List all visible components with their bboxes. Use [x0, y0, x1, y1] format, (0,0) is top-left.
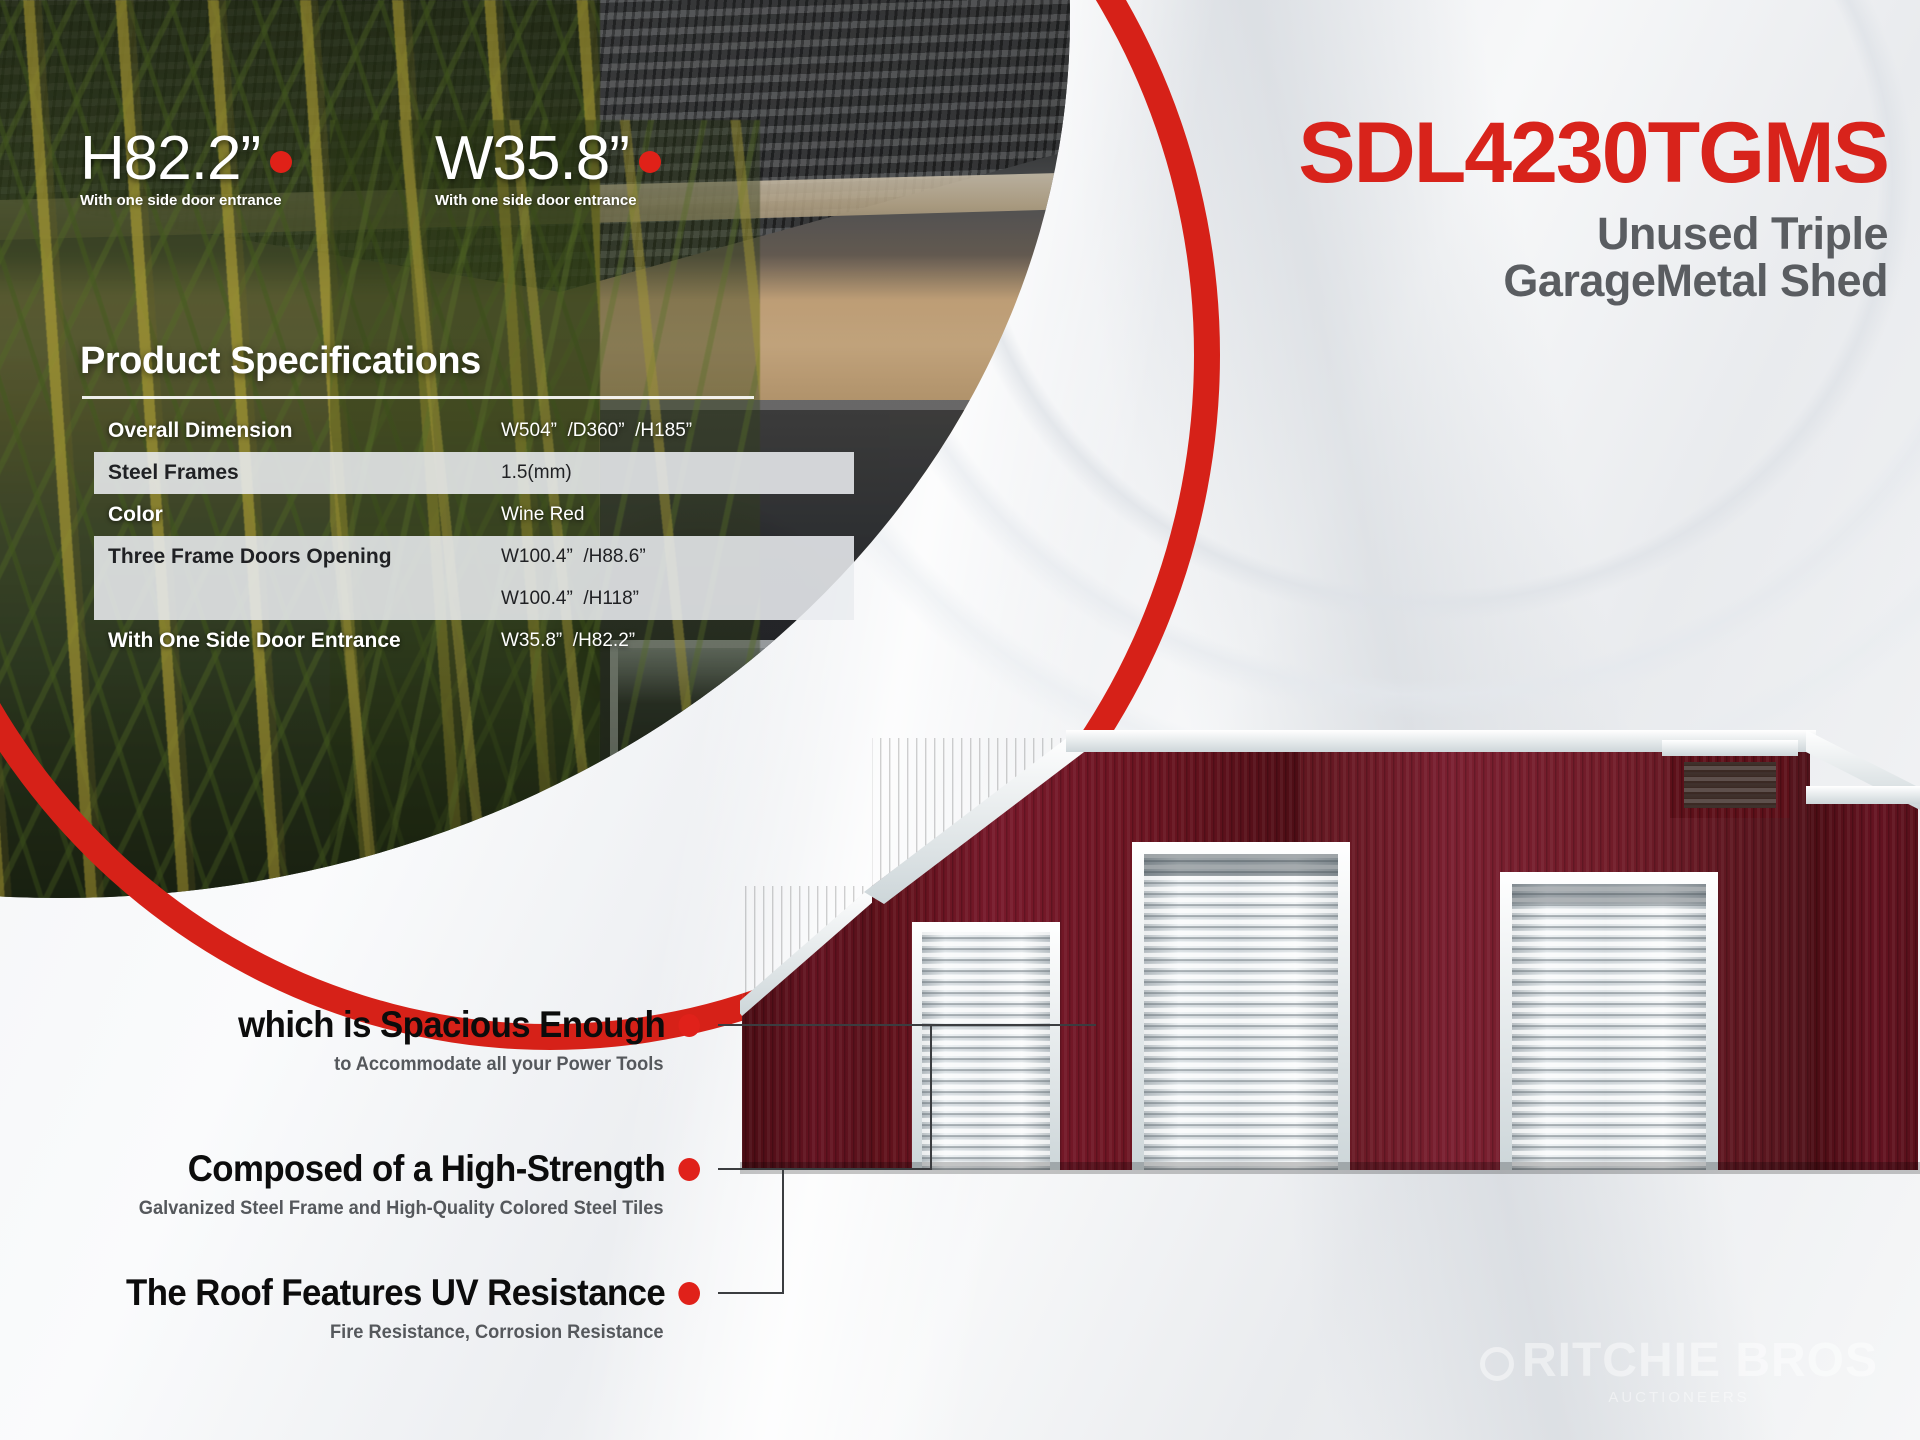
dimension-height-caption: With one side door entrance	[80, 192, 292, 209]
spec-table: Overall Dimension W504” /D360” /H185” St…	[94, 410, 854, 662]
roll-up-door-right	[1500, 872, 1718, 1170]
leader-line-feature-2-riser	[930, 1024, 932, 1170]
spec-label: Overall Dimension	[108, 419, 501, 443]
product-name-line2: GarageMetal Shed	[1298, 257, 1888, 304]
product-title-block: SDL4230TGMS Unused Triple GarageMetal Sh…	[1298, 110, 1888, 305]
spec-label: Color	[108, 503, 501, 527]
leader-line-feature-3-riser	[782, 1168, 784, 1294]
feature-2-headline: Composed of a High-Strength	[188, 1148, 665, 1190]
spec-value: W504” /D360” /H185”	[501, 420, 692, 442]
spec-label: Steel Frames	[108, 461, 501, 485]
spec-value: W35.8” /H82.2”	[501, 630, 635, 652]
feature-callout-1: which is Spacious Enough to Accommodate …	[40, 1004, 700, 1076]
red-dot-icon	[270, 151, 292, 173]
spec-value: Wine Red	[501, 504, 584, 526]
poster-canvas: H82.2” With one side door entrance W35.8…	[0, 0, 1920, 1440]
feature-callout-2: Composed of a High-Strength Galvanized S…	[10, 1148, 700, 1220]
spec-heading: Product Specifications	[80, 340, 481, 383]
spec-value: W100.4” /H88.6”	[501, 546, 646, 568]
roll-up-door-middle	[1132, 842, 1350, 1170]
red-dot-icon	[678, 1158, 700, 1181]
spec-value: W100.4” /H118”	[501, 588, 639, 610]
spec-value: 1.5(mm)	[501, 462, 572, 484]
leader-line-feature-1	[718, 1024, 1096, 1026]
red-dot-icon	[678, 1282, 700, 1305]
table-row: W100.4” /H118”	[94, 578, 854, 620]
table-row: Color Wine Red	[94, 494, 854, 536]
product-name: Unused Triple GarageMetal Shed	[1298, 210, 1888, 305]
table-row: Overall Dimension W504” /D360” /H185”	[94, 410, 854, 452]
dimension-width-caption: With one side door entrance	[435, 192, 661, 209]
product-code: SDL4230TGMS	[1298, 110, 1888, 196]
red-dot-icon	[639, 151, 661, 173]
spec-heading-rule	[82, 396, 754, 399]
dimension-height-value: H82.2”	[80, 128, 260, 190]
table-row: With One Side Door Entrance W35.8” /H82.…	[94, 620, 854, 662]
product-name-line1: Unused Triple	[1298, 210, 1888, 257]
table-row-band: Three Frame Doors Opening W100.4” /H88.6…	[94, 536, 854, 620]
dimension-callout-width: W35.8” With one side door entrance	[435, 128, 661, 209]
table-row: Three Frame Doors Opening W100.4” /H88.6…	[94, 536, 854, 578]
spec-label: Three Frame Doors Opening	[108, 545, 501, 569]
feature-3-subline: Fire Resistance, Corrosion Resistance	[28, 1322, 700, 1344]
shed-reflection	[740, 1250, 1920, 1440]
feature-callout-3: The Roof Features UV Resistance Fire Res…	[0, 1272, 700, 1344]
feature-1-headline: which is Spacious Enough	[238, 1004, 665, 1046]
red-dot-icon	[678, 1014, 700, 1037]
feature-3-headline: The Roof Features UV Resistance	[126, 1272, 665, 1314]
table-row-band: Steel Frames 1.5(mm)	[94, 452, 854, 494]
feature-1-headline-row: which is Spacious Enough	[80, 1004, 700, 1046]
leader-line-feature-2	[718, 1168, 932, 1170]
leader-line-feature-3	[718, 1292, 784, 1294]
roll-up-door-left	[912, 922, 1060, 1170]
product-image-shed	[740, 700, 1920, 1260]
feature-1-subline: to Accommodate all your Power Tools	[66, 1054, 700, 1076]
dimension-callout-height: H82.2” With one side door entrance	[80, 128, 292, 209]
spec-label: With One Side Door Entrance	[108, 629, 501, 653]
table-row: Steel Frames 1.5(mm)	[94, 452, 854, 494]
dimension-width-value: W35.8”	[435, 128, 629, 190]
feature-3-headline-row: The Roof Features UV Resistance	[42, 1272, 700, 1314]
feature-2-headline-row: Composed of a High-Strength	[51, 1148, 700, 1190]
feature-2-subline: Galvanized Steel Frame and High-Quality …	[38, 1198, 700, 1220]
